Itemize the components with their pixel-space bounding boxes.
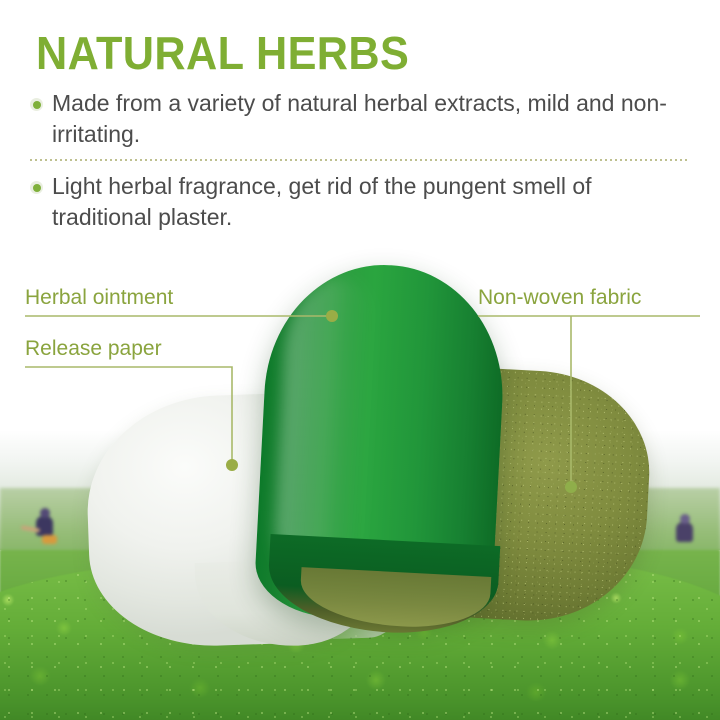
leader-line-non-woven-fabric bbox=[478, 316, 700, 487]
feature-text: Made from a variety of natural herbal ex… bbox=[52, 88, 690, 150]
feature-text: Light herbal fragrance, get rid of the p… bbox=[52, 171, 690, 233]
feature-bullet-list: Made from a variety of natural herbal ex… bbox=[30, 88, 690, 233]
green-dot-bullet-icon bbox=[30, 98, 43, 111]
product-infographic-poster: NATURAL HERBS Made from a variety of nat… bbox=[0, 0, 720, 720]
callout-label-herbal-ointment: Herbal ointment bbox=[25, 286, 173, 310]
callout-label-non-woven-fabric: Non-woven fabric bbox=[478, 286, 641, 310]
callout-dot-herbal-ointment bbox=[326, 310, 338, 322]
callout-dot-non-woven-fabric bbox=[565, 481, 577, 493]
list-item: Made from a variety of natural herbal ex… bbox=[30, 88, 690, 150]
list-item: Light herbal fragrance, get rid of the p… bbox=[30, 171, 690, 233]
green-dot-bullet-icon bbox=[30, 181, 43, 194]
dotted-divider bbox=[30, 159, 690, 161]
callout-label-release-paper: Release paper bbox=[25, 337, 162, 361]
page-title: NATURAL HERBS bbox=[36, 26, 409, 80]
callout-dot-release-paper bbox=[226, 459, 238, 471]
leader-line-release-paper bbox=[25, 367, 232, 465]
